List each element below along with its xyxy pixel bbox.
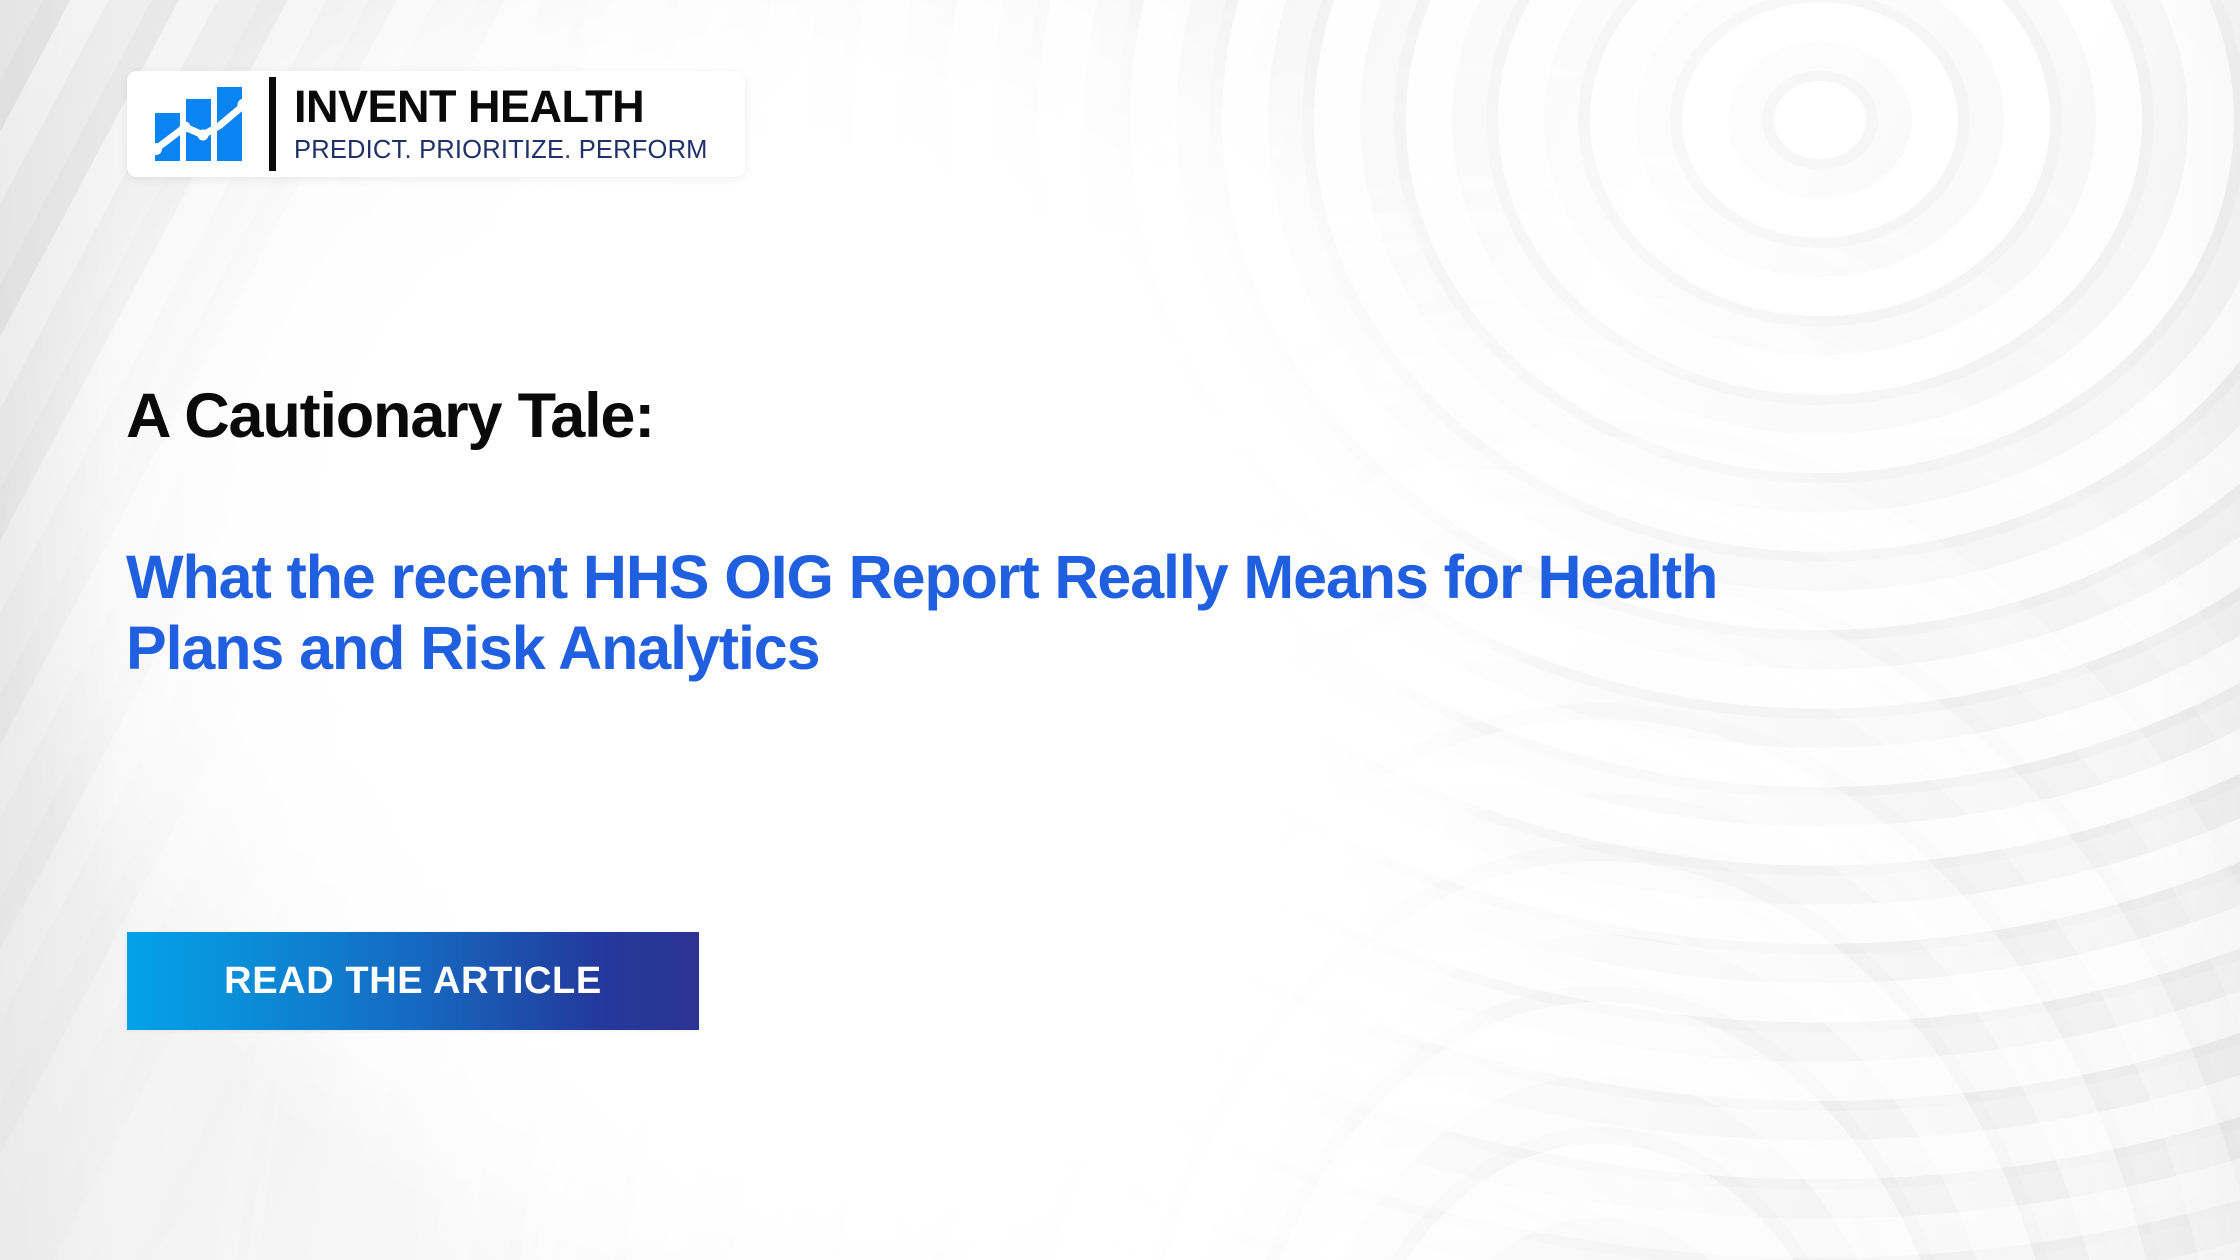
- logo-wordmark: INVENT HEALTH PREDICT. PRIORITIZE. PERFO…: [294, 84, 708, 164]
- hero-eyebrow: A Cautionary Tale:: [126, 382, 654, 450]
- bar-chart-trendline-icon: [147, 83, 255, 165]
- read-the-article-button[interactable]: READ THE ARTICLE: [127, 932, 699, 1030]
- logo-divider: [269, 77, 276, 171]
- hero-headline-line-1: What the recent HHS OIG Report Really: [126, 543, 1228, 611]
- brand-name: INVENT HEALTH: [294, 84, 708, 129]
- promo-banner: INVENT HEALTH PREDICT. PRIORITIZE. PERFO…: [0, 0, 2240, 1260]
- hero-headline: What the recent HHS OIG Report Really Me…: [126, 542, 1746, 684]
- brand-tagline: PREDICT. PRIORITIZE. PERFORM: [294, 138, 708, 164]
- brand-logo-card[interactable]: INVENT HEALTH PREDICT. PRIORITIZE. PERFO…: [127, 71, 745, 177]
